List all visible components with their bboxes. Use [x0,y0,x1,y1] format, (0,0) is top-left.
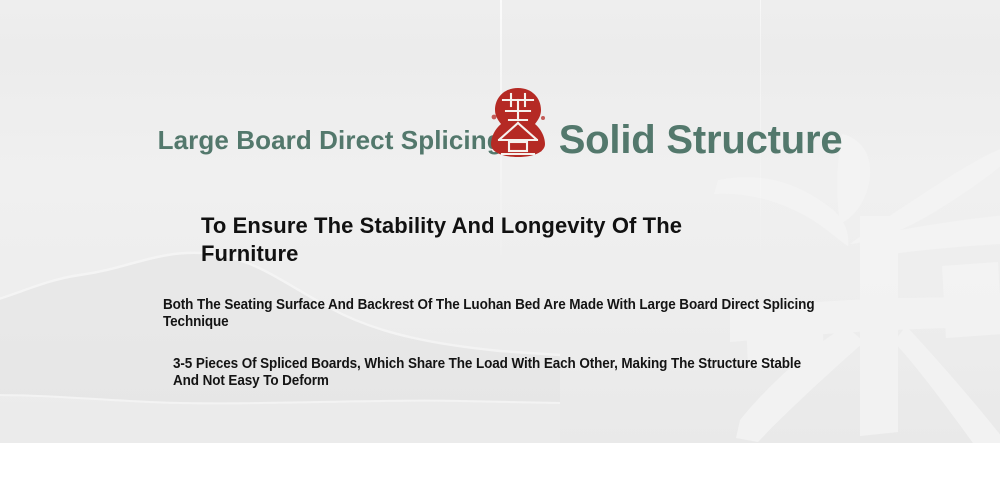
headline-secondary: Solid Structure [559,120,843,160]
body-paragraph-2: 3-5 Pieces Of Spliced Boards, Which Shar… [173,356,815,390]
copy-block: To Ensure The Stability And Longevity Of… [0,212,1000,390]
subheading: To Ensure The Stability And Longevity Of… [201,212,725,268]
footer-plate [0,443,1000,491]
headline-row: Large Board Direct Splicing [0,104,1000,176]
feature-banner: Large Board Direct Splicing [0,0,1000,443]
headline-primary: Large Board Direct Splicing [158,127,503,153]
body-paragraph-1: Both The Seating Surface And Backrest Of… [163,297,842,331]
brand-seal-icon [489,87,547,157]
